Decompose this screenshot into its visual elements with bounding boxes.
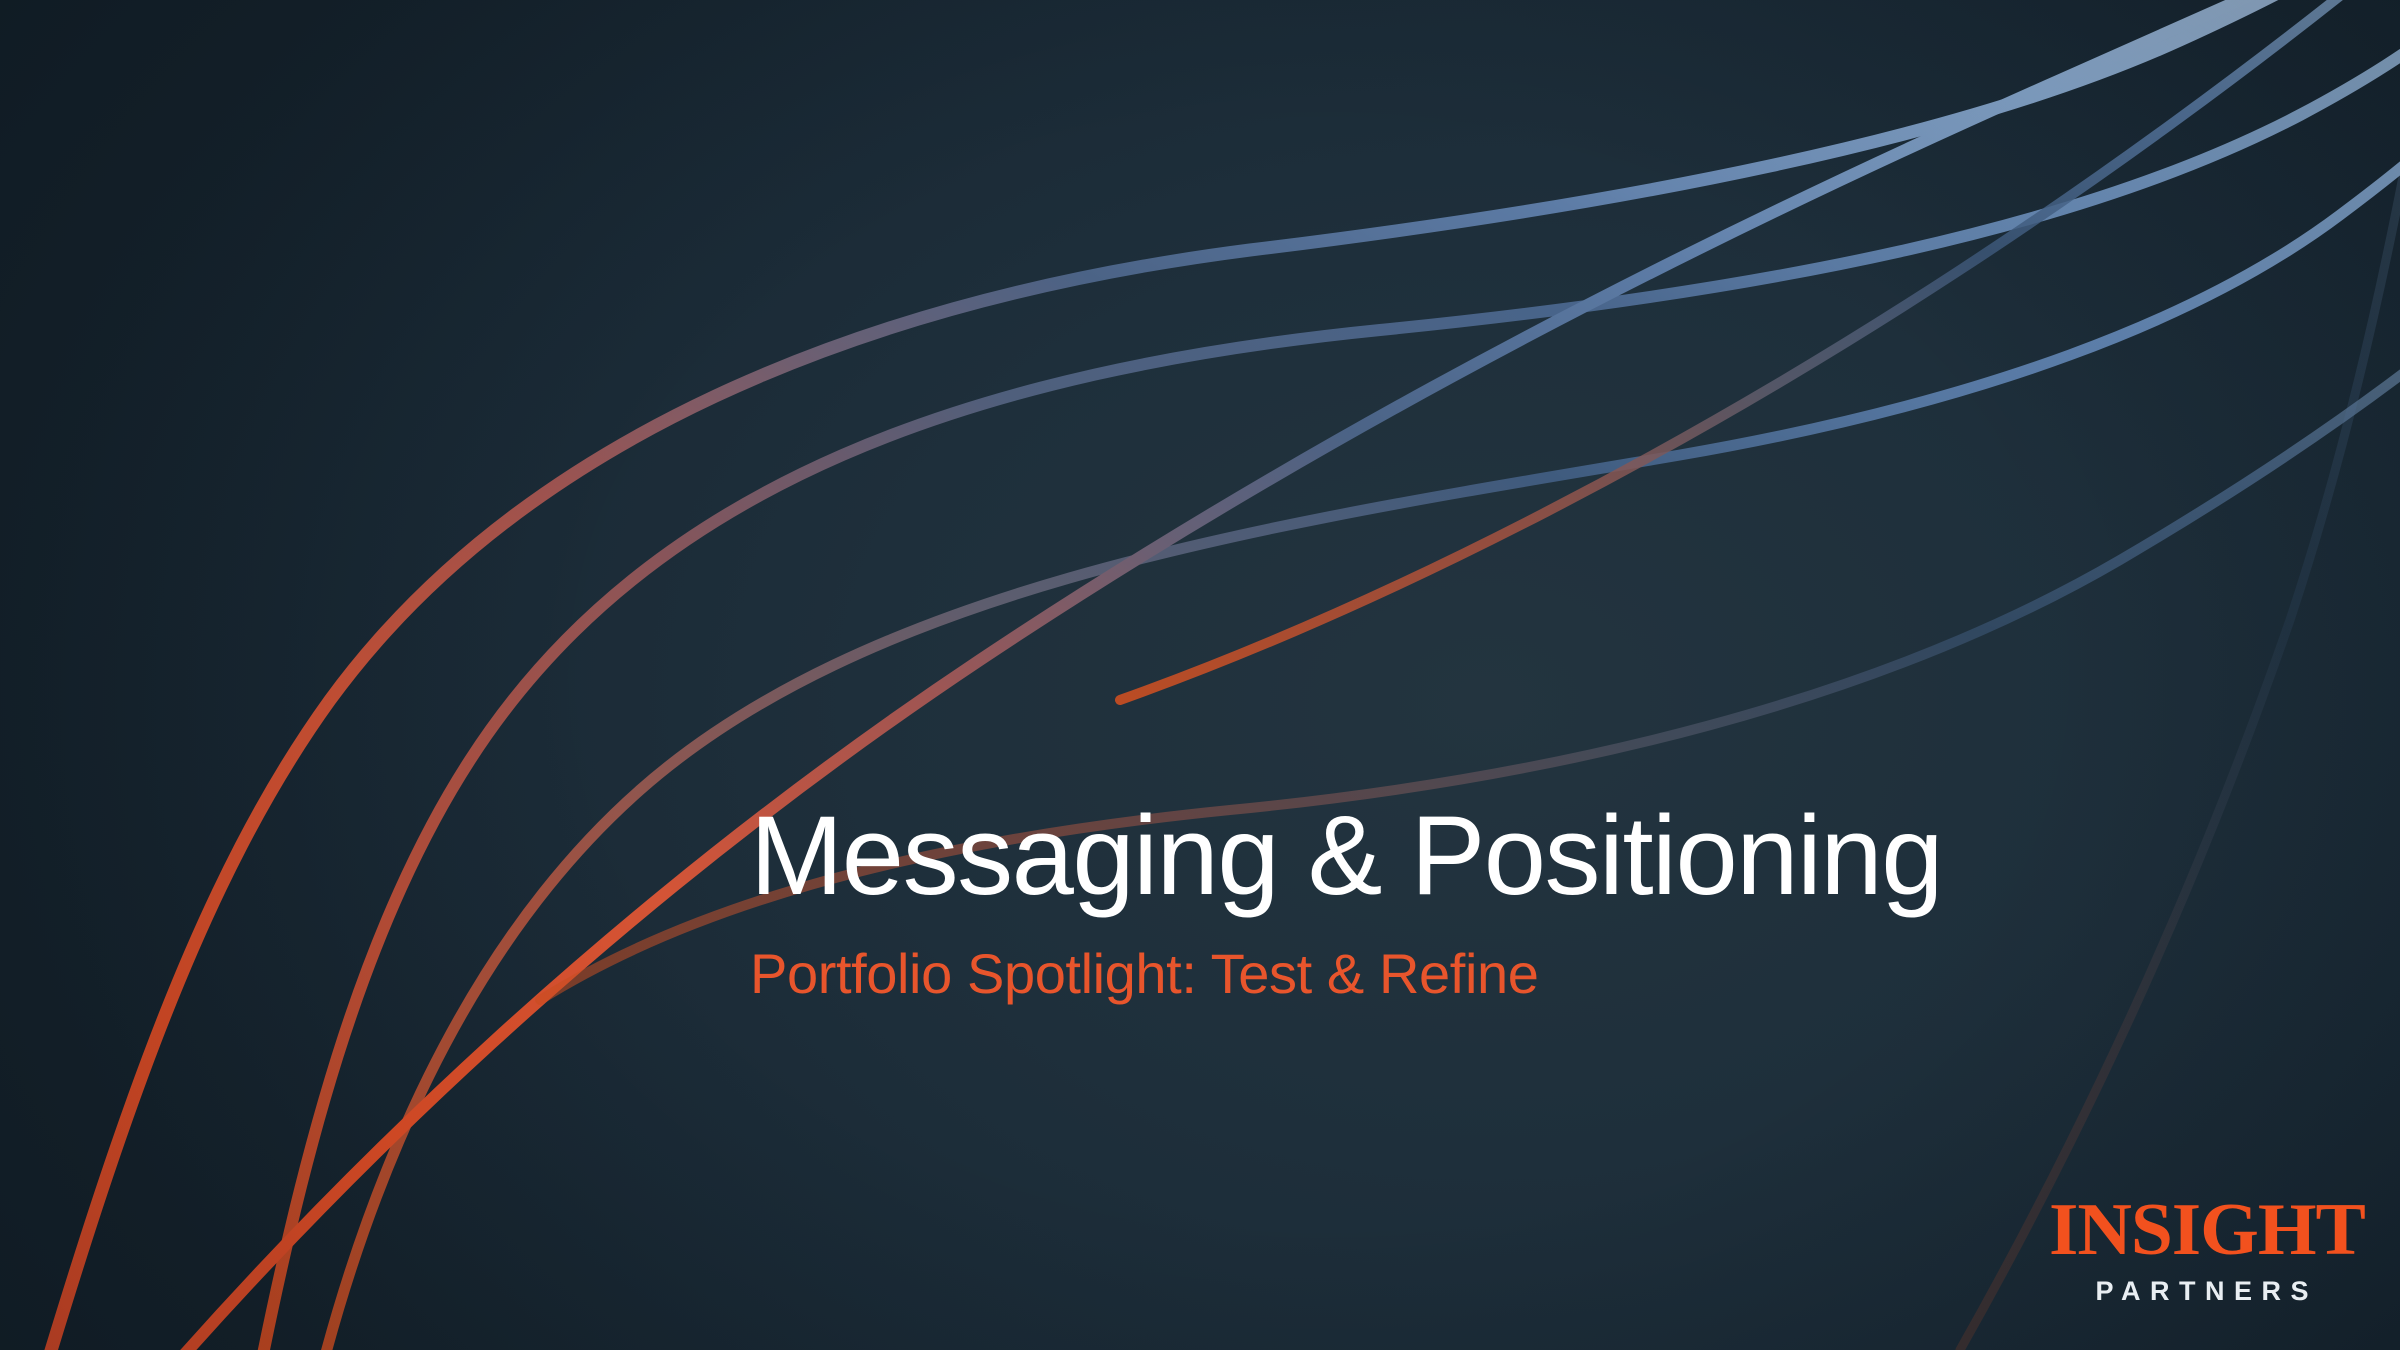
- title-slide: Messaging & Positioning Portfolio Spotli…: [0, 0, 2400, 1350]
- swoosh-curves-decoration: [0, 0, 2400, 1350]
- title-text-block: Messaging & Positioning Portfolio Spotli…: [750, 800, 1942, 1002]
- logo-wordmark-partners: PARTNERS: [2052, 1276, 2352, 1307]
- page-title: Messaging & Positioning: [750, 800, 1942, 912]
- page-subtitle: Portfolio Spotlight: Test & Refine: [750, 946, 1942, 1002]
- logo-wordmark-insight: INSIGHT: [2049, 1196, 2355, 1264]
- insight-partners-logo: INSIGHT PARTNERS: [2052, 1196, 2352, 1307]
